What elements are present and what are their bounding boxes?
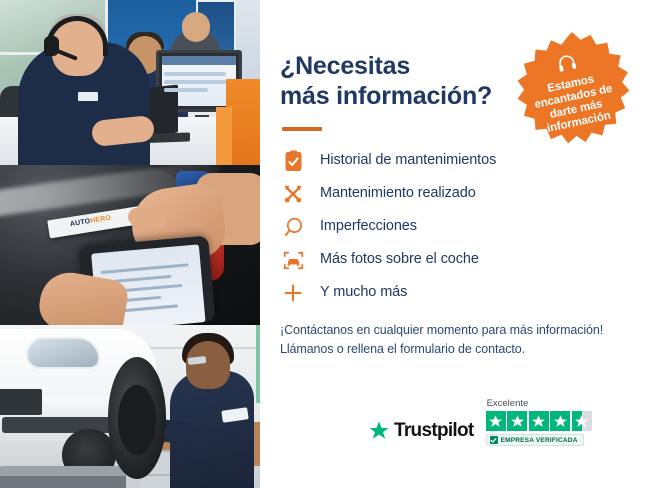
contact-text: ¡Contáctanos en cualquier momento para m… (280, 321, 626, 360)
call-center-agents-photo (0, 0, 260, 165)
magnifier-icon (280, 215, 306, 239)
trustpilot-stars (486, 411, 592, 431)
status-badge: EMPRESA VERIFICADA (486, 434, 584, 446)
trustpilot-logo[interactable]: Trustpilot (368, 420, 474, 446)
status-badge-starburst: Estamos encantados de darte más informac… (512, 30, 632, 150)
content-panel: ¿Necesitas más información? Historial de… (260, 0, 650, 488)
star-tile-half (572, 411, 592, 431)
feature-item-imperfections: Imperfecciones (280, 215, 626, 239)
feature-list: Historial de mantenimientos M (280, 149, 626, 305)
star-tile (507, 411, 527, 431)
plus-icon (280, 281, 306, 305)
badge-text: Estamos encantados de darte más informac… (519, 68, 631, 140)
autohero-brand-auto: AUTO (70, 218, 91, 228)
car-inspection-ruler-photo: AUTOHERO (0, 165, 260, 325)
trustpilot-star-icon (368, 420, 390, 442)
contact-line2: Llámanos o rellena el formulario de cont… (280, 342, 525, 356)
page-title-line2: más información? (280, 82, 492, 110)
autohero-brand-hero: HERO (90, 215, 112, 225)
feature-item-maintenance-done: Mantenimiento realizado (280, 182, 626, 206)
feature-label: Y mucho más (320, 284, 407, 301)
contact-line1: ¡Contáctanos en cualquier momento para m… (280, 323, 603, 337)
star-tile (529, 411, 549, 431)
trustpilot-rating: Excelente EMPRESA VERIFICADA (486, 398, 592, 446)
feature-item-more-photos: Más fotos sobre el coche (280, 248, 626, 272)
verified-label: EMPRESA VERIFICADA (501, 437, 578, 444)
feature-label: Mantenimiento realizado (320, 185, 476, 202)
star-tile (486, 411, 506, 431)
page-title: ¿Necesitas más información? (280, 52, 510, 111)
feature-item-much-more: Y mucho más (280, 281, 626, 305)
info-promo-card: AUTOHERO (0, 0, 650, 488)
trustpilot-rating-label: Excelente (487, 398, 529, 409)
tools-cross-icon (280, 182, 306, 206)
photo-column: AUTOHERO (0, 0, 260, 488)
feature-item-maintenance-history: Historial de mantenimientos (280, 149, 626, 173)
clipboard-check-icon (280, 149, 306, 173)
workshop-technician-photo (0, 325, 260, 488)
trustpilot-wordmark: Trustpilot (394, 420, 474, 442)
feature-label: Imperfecciones (320, 218, 417, 235)
feature-label: Más fotos sobre el coche (320, 251, 479, 268)
feature-label: Historial de mantenimientos (320, 152, 496, 169)
verified-check-icon (490, 436, 498, 444)
car-focus-frame-icon (280, 248, 306, 272)
title-divider (282, 127, 322, 131)
trustpilot-widget[interactable]: Trustpilot Excelente EMPRESA VERIFICADA (368, 398, 592, 446)
headset-icon (555, 53, 578, 78)
star-tile (550, 411, 570, 431)
page-title-line1: ¿Necesitas (280, 52, 410, 80)
